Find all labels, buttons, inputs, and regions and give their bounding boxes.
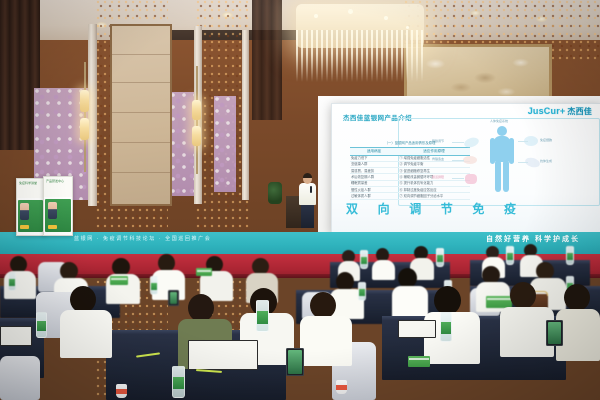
- chair: [0, 356, 40, 400]
- organ-icon-marrow: [463, 156, 477, 164]
- table-tent-card: [110, 276, 128, 285]
- smartphone: [168, 290, 179, 306]
- rollup-header-text: 产品研发中心: [46, 180, 64, 184]
- smartphone: [286, 348, 304, 376]
- table-cell: ⑤ 提升机体抗氧化能力: [398, 181, 470, 186]
- diagram-leader-line: [518, 162, 528, 163]
- diagram-label-left: 骨髓造血: [432, 157, 444, 161]
- water-bottle: [36, 312, 47, 338]
- notepad: [188, 340, 258, 370]
- brand-logo: JusCur+杰西佳: [528, 106, 592, 117]
- projection-screen: 杰西佳蓝银网产品介绍 JusCur+杰西佳 （一）蓝银网产品适用情形及原理 适用…: [331, 103, 600, 233]
- paper-cup: [116, 384, 127, 398]
- diagram-leader-line: [518, 141, 528, 142]
- sconce-stem: [84, 62, 86, 172]
- table-cell: ⑥ 抑制过度免疫应答反应: [398, 187, 470, 192]
- lavender-pattern-panel: [214, 96, 236, 192]
- table-header-row: 适用病症 适应作用原理: [350, 147, 470, 156]
- table-cell: 亚健康人群: [350, 162, 398, 167]
- diagram-label-right: 免疫细胞: [540, 138, 552, 142]
- microphone-icon: [310, 186, 312, 193]
- human-body-figure-icon: [490, 126, 514, 192]
- table-tent-card: [196, 268, 212, 276]
- wall-sconce: [80, 118, 89, 140]
- table-cell: 易感冒、易疲劳: [350, 168, 398, 173]
- conference-photo-scene: 杰西佳蓝银网产品介绍 JusCur+杰西佳 （一）蓝银网产品适用情形及原理 适用…: [0, 0, 600, 400]
- banner-right-slogan: 自然好营养 科学护成长: [486, 234, 580, 244]
- diagram-label-right: 抗体生成: [540, 159, 552, 163]
- headline-char: 双: [346, 200, 358, 217]
- table-cell: ② 调节免疫平衡: [398, 162, 470, 167]
- window-drape: [252, 0, 282, 120]
- headline-char: 节: [441, 200, 453, 217]
- water-bottle: [8, 272, 16, 291]
- rollup-banner: 产品研发中心: [43, 176, 73, 236]
- logo-latin-text: JusCur: [528, 106, 560, 116]
- wall-pillar: [242, 30, 249, 200]
- logo-cjk-text: 杰西佳: [567, 107, 592, 116]
- table-cell: ⑦ 双向调节细胞因子分泌水平: [398, 193, 470, 198]
- wall-sconce: [192, 126, 201, 146]
- banner-left-text: 蓝银网 · 免疫调节科技论坛 · 全国巡回推广会: [74, 235, 211, 242]
- table-cell: 慢性炎症人群: [350, 187, 398, 192]
- water-bottle: [360, 250, 368, 269]
- table-row: 过敏体质人群 ⑦ 双向调节细胞因子分泌水平: [350, 193, 470, 199]
- diagram-label-left: 胸腺调节: [432, 139, 444, 143]
- diagram-leader-line: [452, 160, 464, 161]
- notepad: [398, 320, 436, 338]
- rollup-banner: 免疫科学讲堂: [16, 178, 45, 236]
- headline-char: 免: [472, 200, 484, 217]
- paper-cup: [336, 380, 347, 394]
- water-bottle: [506, 246, 514, 265]
- organ-icon-intestine: [465, 174, 477, 184]
- water-bottle: [358, 282, 366, 301]
- table-header-cell: 适应作用原理: [398, 148, 470, 155]
- water-bottle: [566, 246, 574, 265]
- headline-char: 疫: [504, 200, 516, 217]
- table-cell: 免疫力低下: [350, 156, 398, 161]
- headline-char: 调: [409, 200, 421, 217]
- diagram-label-left: 肠道屏障: [432, 175, 444, 179]
- logo-plus-icon: +: [560, 106, 565, 116]
- diagram-leader-line: [452, 178, 464, 179]
- speaker-hair: [303, 173, 312, 178]
- table-cell: 过敏体质人群: [350, 193, 398, 198]
- wall-sconce: [192, 100, 201, 120]
- wall-sconce: [80, 90, 89, 112]
- table-header-cell: 适用病症: [350, 148, 398, 155]
- diagram-title: 人体免疫系统: [490, 119, 508, 123]
- table-cell: 睡眠质量差: [350, 181, 398, 186]
- speaker-legs: [301, 204, 314, 228]
- water-bottle: [172, 366, 185, 398]
- headline-char: 向: [378, 200, 390, 217]
- slide-headline: 双 向 调 节 免 疫: [346, 200, 516, 217]
- sconce-stem: [196, 66, 198, 174]
- water-bottle: [436, 248, 444, 267]
- table-cell: 术后恢复期人群: [350, 174, 398, 179]
- diagram-leader-line: [452, 142, 464, 143]
- stage-plant: [268, 182, 282, 204]
- water-bottle: [256, 300, 269, 332]
- wall-pillar: [88, 24, 97, 206]
- table-cell: ③ 促进细胞修复再生: [398, 168, 470, 173]
- notepad: [0, 326, 32, 346]
- crystal-chandelier: [296, 0, 424, 86]
- water-bottle: [440, 312, 452, 342]
- speaker-torso: [299, 183, 316, 205]
- slide-table: （一）蓝银网产品适用情形及原理 适用病症 适应作用原理 免疫力低下 ① 增强免疫…: [350, 140, 470, 200]
- table-tent-card: [408, 356, 430, 367]
- table-caption: （一）蓝银网产品适用情形及原理: [350, 140, 470, 145]
- smartphone: [546, 320, 563, 346]
- beige-wall-panel: [110, 24, 172, 206]
- rollup-header-text: 免疫科学讲堂: [19, 182, 37, 186]
- water-bottle: [150, 276, 158, 295]
